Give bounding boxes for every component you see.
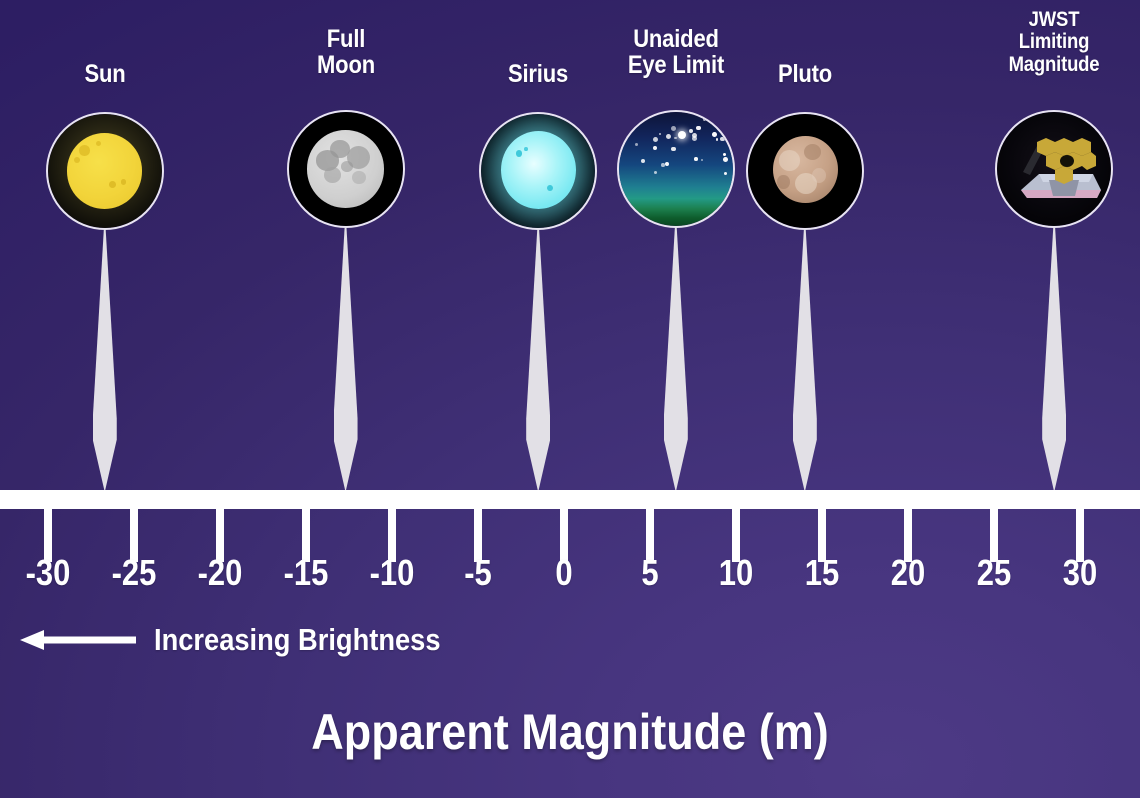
page-title: Apparent Magnitude (m) xyxy=(57,703,1083,761)
apparent-magnitude-infographic: SunFull MoonSiriusUnaided Eye LimitPluto… xyxy=(0,0,1140,798)
star-dot xyxy=(640,120,642,122)
star-dot xyxy=(665,162,669,166)
magnitude-axis-bar xyxy=(0,490,1140,509)
bright-star xyxy=(678,131,686,139)
magnitude-marker-sun[interactable]: Sun xyxy=(0,0,220,500)
star-dot xyxy=(671,147,675,151)
arrow-left-icon xyxy=(18,627,138,653)
marker-pointer xyxy=(93,230,117,492)
marker-pointer xyxy=(526,230,550,492)
badge-inner xyxy=(748,114,862,228)
sunspot xyxy=(79,145,90,156)
axis-tick-label: 30 xyxy=(1028,552,1131,594)
star-dot xyxy=(674,137,676,139)
star-dot xyxy=(653,146,657,150)
sun-disc xyxy=(67,133,142,208)
sun-icon xyxy=(46,112,164,230)
star-spot xyxy=(516,150,523,157)
pluto-region xyxy=(812,168,826,183)
star-dot xyxy=(654,171,657,174)
pluto-region xyxy=(804,144,821,160)
marker-pointer xyxy=(664,228,688,492)
sunspot xyxy=(74,157,80,163)
jwst-telescope-icon xyxy=(995,110,1113,228)
sunspot xyxy=(109,181,116,188)
star-spot xyxy=(524,147,528,151)
star-dot xyxy=(666,134,671,139)
moon-disc xyxy=(307,130,385,208)
magnitude-marker-jwst-limiting-magnitude[interactable]: JWST Limiting Magnitude xyxy=(939,0,1140,500)
marker-pointer xyxy=(334,228,358,492)
lunar-mare xyxy=(324,167,341,183)
pluto-region xyxy=(777,175,790,190)
pluto-icon xyxy=(746,112,864,230)
lunar-mare xyxy=(352,171,366,185)
star-dot xyxy=(671,126,676,131)
marker-label: Pluto xyxy=(704,62,906,88)
marker-label: Full Moon xyxy=(244,27,446,78)
marker-pointer xyxy=(1042,228,1066,492)
pluto-region xyxy=(779,150,800,170)
badge-inner xyxy=(997,112,1111,226)
badge-inner xyxy=(289,112,403,226)
sunspot xyxy=(121,179,126,184)
star-dot xyxy=(635,143,638,146)
jwst-telescope-art xyxy=(997,112,1111,226)
sunspot xyxy=(96,141,101,146)
increasing-brightness-label: Increasing Brightness xyxy=(154,622,441,658)
marker-label: Sun xyxy=(4,62,206,88)
pluto-disc xyxy=(773,136,838,203)
lunar-mare xyxy=(341,161,353,172)
increasing-brightness-note: Increasing Brightness xyxy=(18,622,480,658)
star-spot xyxy=(547,185,553,191)
magnitude-marker-pluto[interactable]: Pluto xyxy=(690,0,920,500)
marker-label: JWST Limiting Magnitude xyxy=(953,9,1140,76)
star-dot xyxy=(659,133,661,135)
full-moon-icon xyxy=(287,110,405,228)
star-dot xyxy=(641,159,645,163)
star-dot xyxy=(653,137,658,142)
badge-inner xyxy=(48,114,162,228)
marker-pointer xyxy=(793,230,817,492)
jwst-mirror-shadow xyxy=(1060,155,1074,167)
